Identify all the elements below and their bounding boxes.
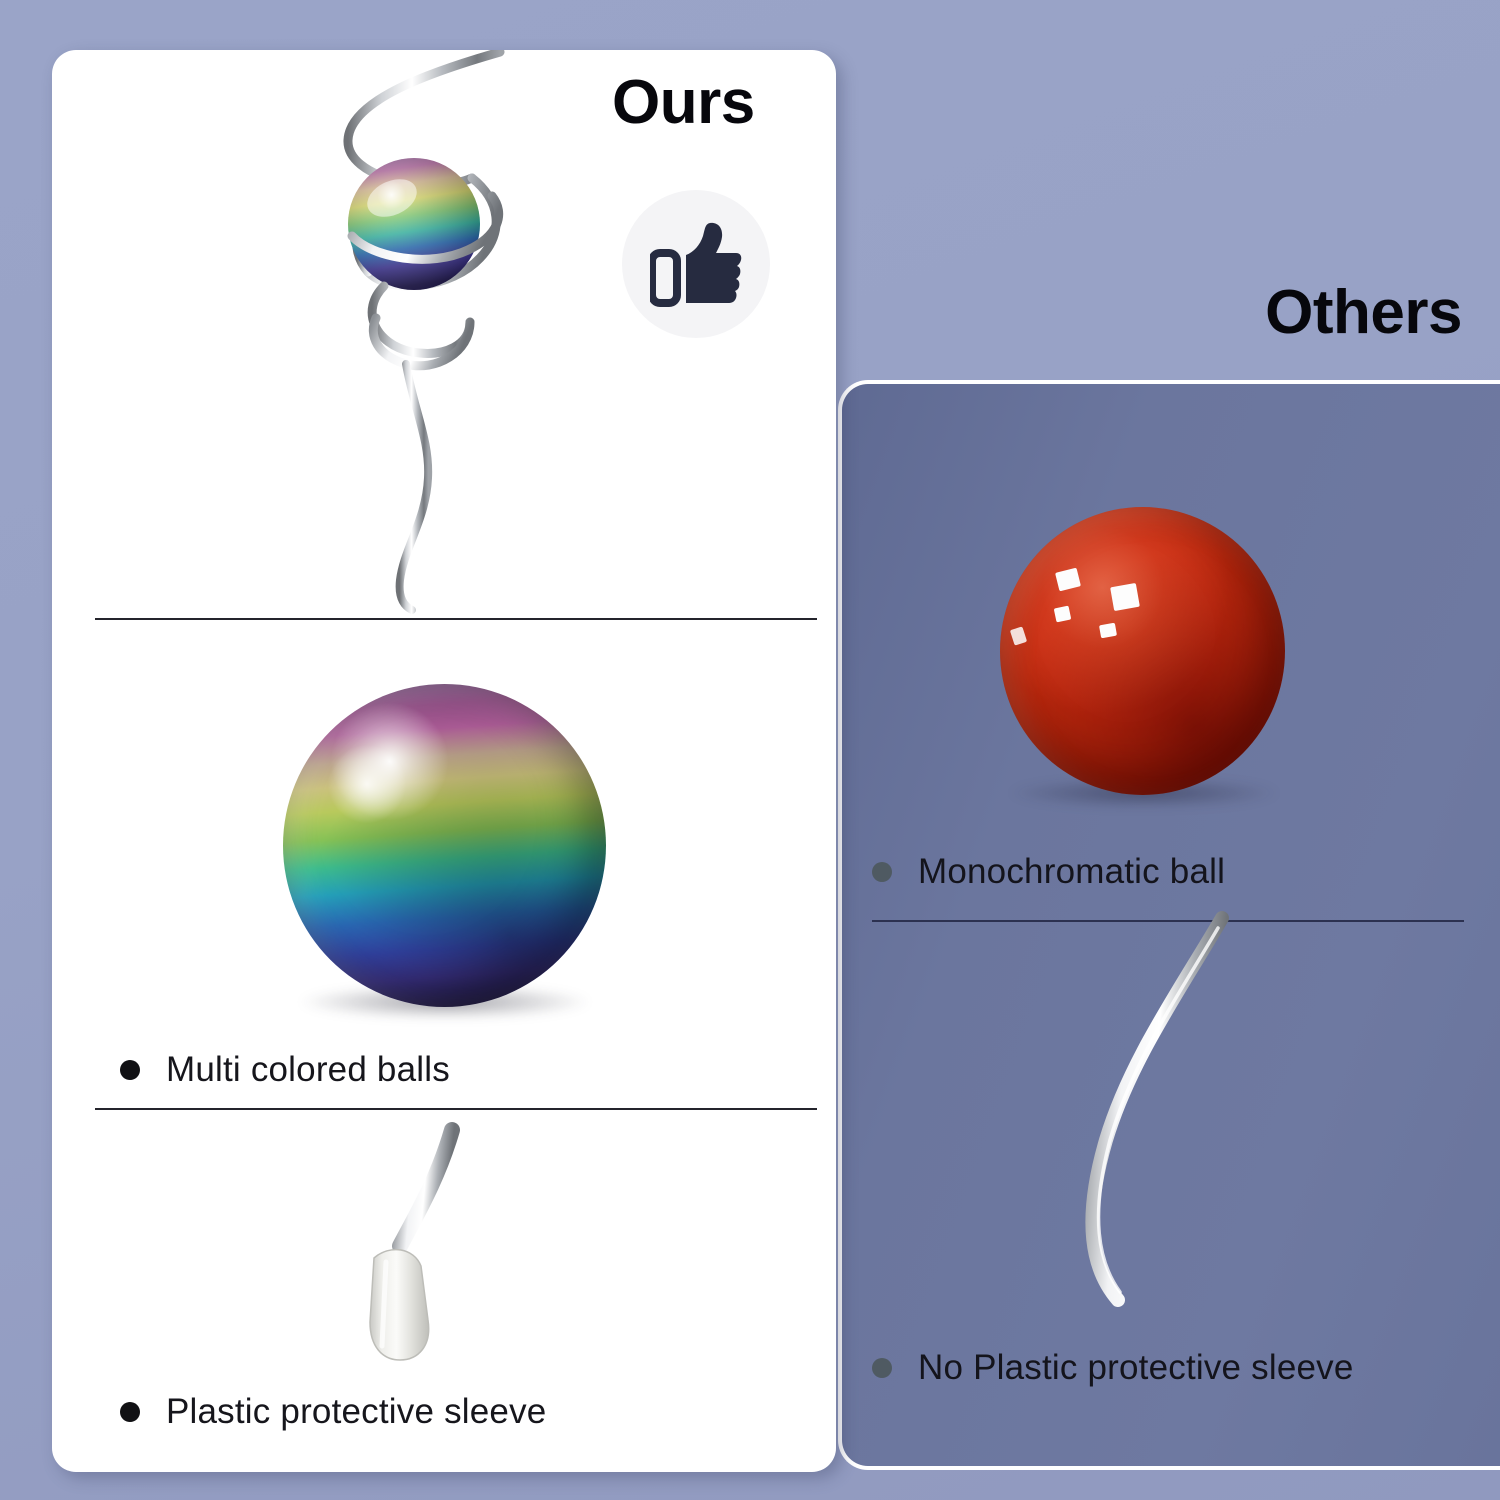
bullet-dot-icon — [872, 862, 892, 882]
red-ball-highlight — [1110, 583, 1140, 611]
ours-divider-top — [95, 618, 817, 620]
ours-title: Ours — [612, 72, 755, 134]
ours-feature-row: Multi colored balls — [120, 1050, 450, 1090]
thumbs-up-icon — [650, 221, 742, 307]
comparison-infographic: Others Ours — [0, 0, 1500, 1500]
rainbow-ball-image — [283, 684, 606, 1007]
bullet-dot-icon — [120, 1060, 140, 1080]
others-feature-row: No Plastic protective sleeve — [872, 1348, 1354, 1388]
red-ball-highlight — [1099, 623, 1117, 639]
others-feature-label: Monochromatic ball — [918, 852, 1225, 892]
ours-feature-label: Plastic protective sleeve — [166, 1392, 546, 1432]
others-divider — [872, 920, 1464, 922]
bullet-dot-icon — [872, 1358, 892, 1378]
others-title: Others — [1265, 282, 1462, 344]
ours-feature-row: Plastic protective sleeve — [120, 1392, 546, 1432]
others-feature-label: No Plastic protective sleeve — [918, 1348, 1354, 1388]
ours-feature-label: Multi colored balls — [166, 1050, 450, 1090]
others-feature-row: Monochromatic ball — [872, 852, 1225, 892]
red-glass-ball-image — [1000, 507, 1285, 795]
ours-divider-bottom — [95, 1108, 817, 1110]
bullet-dot-icon — [120, 1402, 140, 1422]
thumbs-up-badge — [622, 190, 770, 338]
